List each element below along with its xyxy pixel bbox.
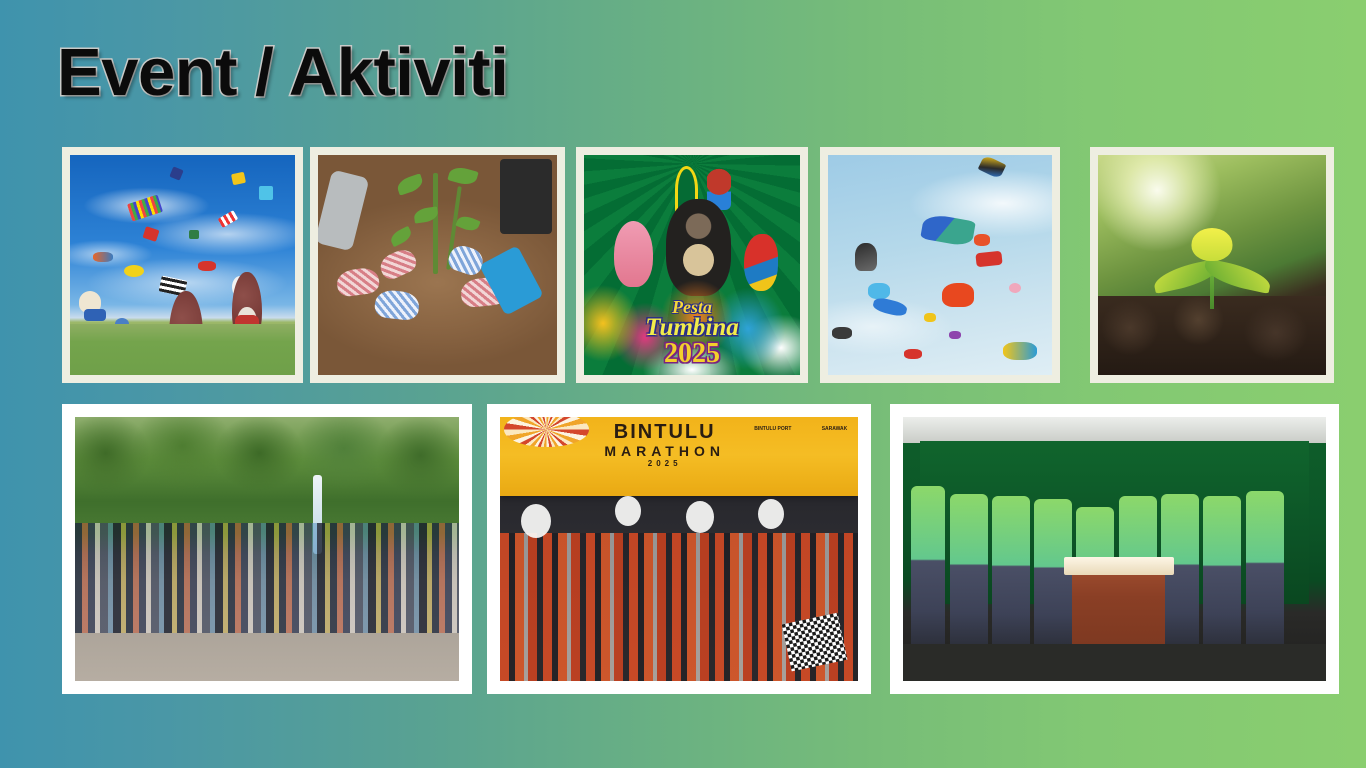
gardening-glove xyxy=(377,246,420,283)
ceremony-participant xyxy=(992,496,1030,660)
photo-bintulu-marathon-start: BINTULU MARATHON 2025 BINTULU PORT SARAW… xyxy=(500,417,858,681)
photo-seedling-sprouting xyxy=(1098,155,1326,375)
kite-shape xyxy=(143,226,160,242)
photo-kite-festival-field xyxy=(70,155,295,375)
bear-mascot-kite xyxy=(232,272,262,347)
bear-mascot-kite xyxy=(169,291,203,375)
marathon-title-line2: MARATHON xyxy=(579,444,751,458)
seahorse-kite xyxy=(920,212,976,247)
kite-shape xyxy=(1009,283,1021,293)
kite-shape xyxy=(904,349,922,359)
poster-title-year: 2025 xyxy=(584,340,800,368)
ceremonial-cake xyxy=(1064,557,1174,575)
kite-shape xyxy=(872,296,908,318)
sapling-stem xyxy=(433,173,438,274)
photo-frame-cake-cutting-ceremony[interactable] xyxy=(890,404,1339,694)
marathon-banner-title: BINTULU MARATHON 2025 xyxy=(579,422,751,468)
kite-shape xyxy=(832,327,852,339)
gardening-glove xyxy=(374,289,421,321)
white-balloon xyxy=(615,496,641,526)
gardening-glove xyxy=(336,267,381,299)
photo-frame-bintulu-marathon-start[interactable]: BINTULU MARATHON 2025 BINTULU PORT SARAW… xyxy=(487,404,871,694)
kite-shape xyxy=(924,313,936,322)
white-balloon xyxy=(758,499,784,529)
stage-floor xyxy=(903,644,1326,681)
marathon-banner: BINTULU MARATHON 2025 BINTULU PORT SARAW… xyxy=(500,417,858,496)
sapling-leaf xyxy=(388,226,413,247)
photo-frame-pesta-tumbina-poster[interactable]: Pesta Tumbina 2025 xyxy=(576,147,808,383)
photo-frame-kite-festival-field[interactable] xyxy=(62,147,303,383)
tent-ceiling xyxy=(903,417,1326,443)
photo-pesta-tumbina-poster: Pesta Tumbina 2025 xyxy=(584,155,800,375)
ceremony-participant xyxy=(1246,491,1284,660)
photo-tree-planting-gloves xyxy=(318,155,557,375)
ceremony-participant xyxy=(950,494,988,660)
kite-shape xyxy=(93,252,113,262)
kite-shape xyxy=(189,230,199,239)
photo-frame-kites-in-blue-sky[interactable] xyxy=(820,147,1060,383)
sunburst-logo-icon xyxy=(504,417,590,447)
page-title: Event / Aktiviti xyxy=(57,36,508,110)
kite-shape xyxy=(974,234,990,246)
sapling-leaf xyxy=(455,213,480,233)
marathon-sponsor-logos: BINTULU PORT SARAWAK xyxy=(754,424,847,434)
photo-community-fun-run-group xyxy=(75,417,459,681)
sapling-leaf xyxy=(395,173,424,195)
kite-shape xyxy=(259,186,273,200)
event-flag-banner xyxy=(313,475,322,554)
kite-shape xyxy=(217,211,238,229)
photo-frame-seedling-sprouting[interactable] xyxy=(1090,147,1334,383)
sponsor-logo-sarawak: SARAWAK xyxy=(822,426,848,432)
sprout-top-leaf xyxy=(1191,228,1232,261)
photo-kites-in-blue-sky xyxy=(828,155,1052,375)
slide-root: Event / Aktiviti xyxy=(0,0,1366,768)
poster-title-block: Pesta Tumbina 2025 xyxy=(584,298,800,368)
kite-shape xyxy=(855,243,877,271)
ceremony-participant xyxy=(1034,499,1072,660)
marathon-title-line1: BINTULU xyxy=(579,422,751,442)
bag-shape xyxy=(500,159,553,234)
ceremony-participant xyxy=(1161,494,1199,660)
dinosaur-kite xyxy=(942,283,974,307)
kite-shape xyxy=(975,250,1002,267)
photo-cake-cutting-ceremony xyxy=(903,417,1326,681)
sponsor-logo-bintulu-port: BINTULU PORT xyxy=(754,426,791,432)
kite-shape xyxy=(115,318,129,330)
photo-frame-community-fun-run-group[interactable] xyxy=(62,404,472,694)
kite-shape xyxy=(198,261,216,271)
ceremony-participant xyxy=(911,486,945,660)
kite-shape xyxy=(231,171,246,184)
photo-frame-tree-planting-gloves[interactable] xyxy=(310,147,565,383)
kite-shape xyxy=(84,309,106,321)
kite-shape xyxy=(127,194,163,221)
white-balloon xyxy=(686,501,714,533)
kite-shape xyxy=(170,167,184,181)
kite-shape xyxy=(124,265,144,277)
marathon-title-year: 2025 xyxy=(579,460,751,468)
kite-shape xyxy=(1003,342,1037,360)
kite-shape xyxy=(978,155,1007,180)
kite-shape xyxy=(949,331,961,339)
poster-title-line2: Tumbina xyxy=(584,315,800,340)
sleeve-shape xyxy=(318,169,369,251)
ceremony-participant xyxy=(1203,496,1241,660)
sapling-leaf xyxy=(448,165,479,188)
kite-shape xyxy=(868,283,890,299)
